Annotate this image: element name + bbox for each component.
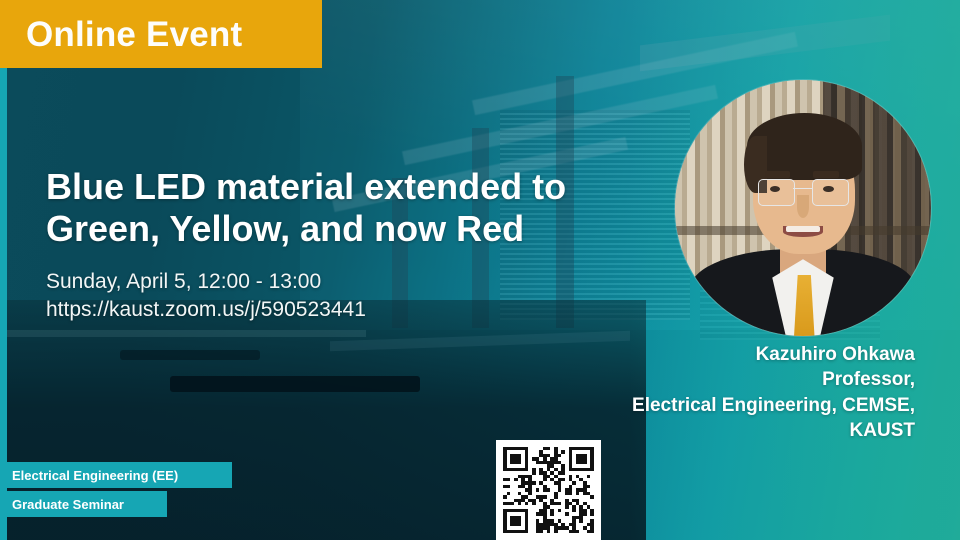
event-announcement-slide: Online Event Blue LED material extended … (0, 0, 960, 540)
dock-edge (6, 330, 366, 337)
badge-label: Graduate Seminar (12, 497, 124, 512)
badge-graduate-seminar: Graduate Seminar (0, 491, 167, 517)
badge-electrical-engineering: Electrical Engineering (EE) (0, 462, 232, 488)
banner-label: Online Event (0, 17, 242, 52)
qr-code-matrix (503, 447, 594, 533)
event-meta: Sunday, April 5, 12:00 - 13:00 https://k… (46, 268, 566, 324)
event-title-line-1: Blue LED material extended to (46, 166, 626, 208)
speaker-portrait (675, 80, 931, 336)
portrait-glasses-left-lens (758, 179, 795, 207)
portrait-glasses-right-lens (812, 179, 849, 207)
portrait-eyebrow-left (765, 171, 791, 178)
badge-label: Electrical Engineering (EE) (12, 468, 178, 483)
qr-code[interactable] (496, 440, 601, 540)
boat-silhouette (170, 376, 420, 392)
online-event-banner: Online Event (0, 0, 322, 68)
boat-silhouette (120, 350, 260, 360)
portrait-glasses-bridge (793, 188, 812, 190)
event-zoom-link[interactable]: https://kaust.zoom.us/j/590523441 (46, 296, 566, 324)
speaker-info: Kazuhiro Ohkawa Professor, Electrical En… (495, 342, 915, 443)
event-datetime: Sunday, April 5, 12:00 - 13:00 (46, 268, 566, 296)
event-title: Blue LED material extended to Green, Yel… (46, 166, 626, 251)
portrait-eyebrow-right (813, 171, 839, 178)
speaker-title: Professor, (495, 367, 915, 392)
event-title-line-2: Green, Yellow, and now Red (46, 208, 626, 250)
speaker-affiliation: Electrical Engineering, CEMSE, (495, 393, 915, 418)
portrait-teeth (786, 226, 819, 232)
speaker-name: Kazuhiro Ohkawa (495, 342, 915, 367)
